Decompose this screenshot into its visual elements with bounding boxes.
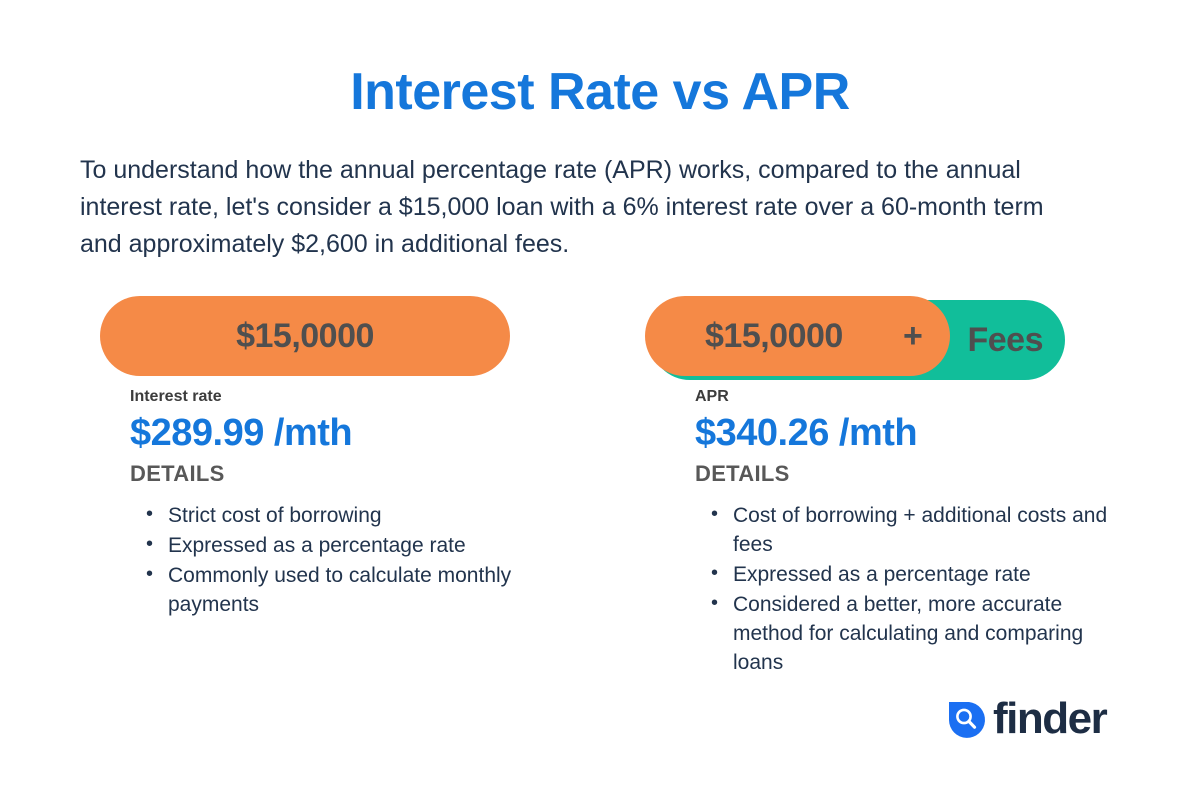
interest-rate-details-heading: DETAILS (130, 461, 570, 487)
principal-pill-left: $15,0000 (100, 296, 510, 376)
list-item: Strict cost of borrowing (168, 501, 538, 530)
interest-rate-monthly-amount: $289.99 /mth (130, 412, 570, 455)
plus-operator: + (903, 296, 923, 376)
apr-bullet-list: Cost of borrowing + additional costs and… (645, 501, 1125, 677)
infographic-page: Interest Rate vs APR To understand how t… (0, 0, 1200, 800)
interest-rate-column: $15,0000 Interest rate $289.99 /mth DETA… (100, 290, 570, 620)
apr-column: Fees $15,0000 + APR $340.26 /mth DETAILS… (645, 290, 1125, 678)
finder-logo: finder (945, 697, 1106, 741)
list-item: Expressed as a percentage rate (168, 531, 538, 560)
interest-rate-pill-group: $15,0000 (100, 290, 570, 382)
apr-label: APR (695, 388, 1125, 406)
interest-rate-label: Interest rate (130, 388, 570, 406)
list-item: Cost of borrowing + additional costs and… (733, 501, 1125, 559)
list-item: Expressed as a percentage rate (733, 560, 1125, 589)
apr-monthly-amount: $340.26 /mth (695, 412, 1125, 455)
droplet-magnifier-icon (945, 698, 987, 740)
intro-paragraph: To understand how the annual percentage … (80, 152, 1090, 263)
finder-wordmark: finder (993, 697, 1106, 741)
list-item: Considered a better, more accurate metho… (733, 590, 1125, 677)
page-title: Interest Rate vs APR (0, 64, 1200, 121)
apr-pill-group: Fees $15,0000 + (645, 290, 1125, 382)
list-item: Commonly used to calculate monthly payme… (168, 561, 538, 619)
interest-rate-bullet-list: Strict cost of borrowing Expressed as a … (100, 501, 570, 619)
apr-details-heading: DETAILS (695, 461, 1125, 487)
